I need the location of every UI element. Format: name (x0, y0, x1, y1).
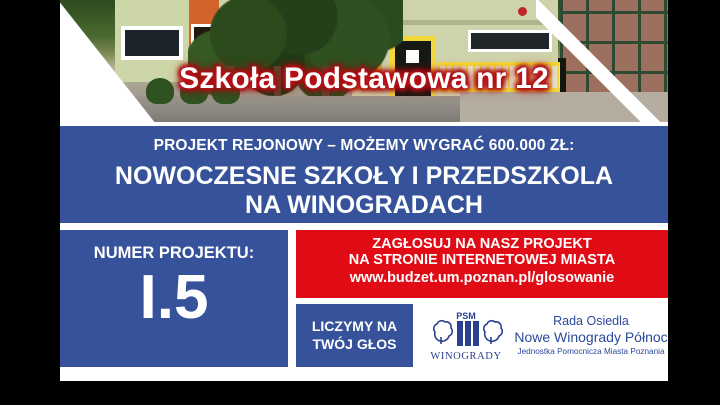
project-number-panel: NUMER PROJEKTU: I.5 (60, 230, 288, 367)
slogan-box: LICZYMY NA TWÓJ GŁOS (296, 304, 413, 367)
banner-headline-line2: NA WINOGRADACH (60, 191, 668, 220)
vote-call-to-action[interactable]: ZAGŁOSUJ NA NASZ PROJEKT NA STRONIE INTE… (296, 230, 668, 298)
council-note: Jednostka Pomocnicza Miasta Poznania (514, 347, 668, 357)
winogrady-logo-name: WINOGRADY (420, 351, 512, 362)
slogan-line-2: TWÓJ GŁOS (313, 336, 397, 352)
vote-line-2: NA STRONIE INTERNETOWEJ MIASTA (296, 252, 668, 268)
winogrady-logo: PSM WINOGRADY (420, 310, 512, 362)
psm-trees-icon: PSM (427, 310, 505, 350)
vote-url[interactable]: www.budzet.um.poznan.pl/glosowanie (296, 270, 668, 286)
council-title: Rada Osiedla (514, 314, 668, 329)
wing-window-large (121, 26, 183, 60)
red-lamp (518, 7, 527, 16)
school-photo: Szkoła Podstawowa nr 12 (60, 0, 668, 122)
project-number-label: NUMER PROJEKTU: (60, 230, 288, 263)
council-subtitle: Nowe Winogrady Północ (514, 329, 668, 346)
council-text: Rada Osiedla Nowe Winogrady Północ Jedno… (512, 314, 668, 357)
poster-sheet: Szkoła Podstawowa nr 12 PROJEKT REJONOWY… (60, 0, 668, 381)
project-number-value: I.5 (60, 265, 288, 330)
slogan-line-1: LICZYMY NA (312, 318, 397, 334)
svg-text:PSM: PSM (456, 311, 476, 321)
photo-corner-cut-right (536, 0, 668, 122)
vote-line-1: ZAGŁOSUJ NA NASZ PROJEKT (296, 230, 668, 252)
banner-kicker: PROJEKT REJONOWY – MOŻEMY WYGRAĆ 600.000… (60, 126, 668, 155)
school-name-title: Szkoła Podstawowa nr 12 (60, 62, 668, 96)
poster-slide: Szkoła Podstawowa nr 12 PROJEKT REJONOWY… (0, 0, 720, 405)
winogrady-logo-mark: PSM (420, 310, 512, 350)
council-block: PSM WINOGRADY Rada Osiedla Nowe Winograd… (420, 304, 668, 367)
project-banner: PROJEKT REJONOWY – MOŻEMY WYGRAĆ 600.000… (60, 126, 668, 223)
footer-strip (60, 369, 668, 381)
banner-headline-line1: NOWOCZESNE SZKOŁY I PRZEDSZKOLA (60, 162, 668, 191)
